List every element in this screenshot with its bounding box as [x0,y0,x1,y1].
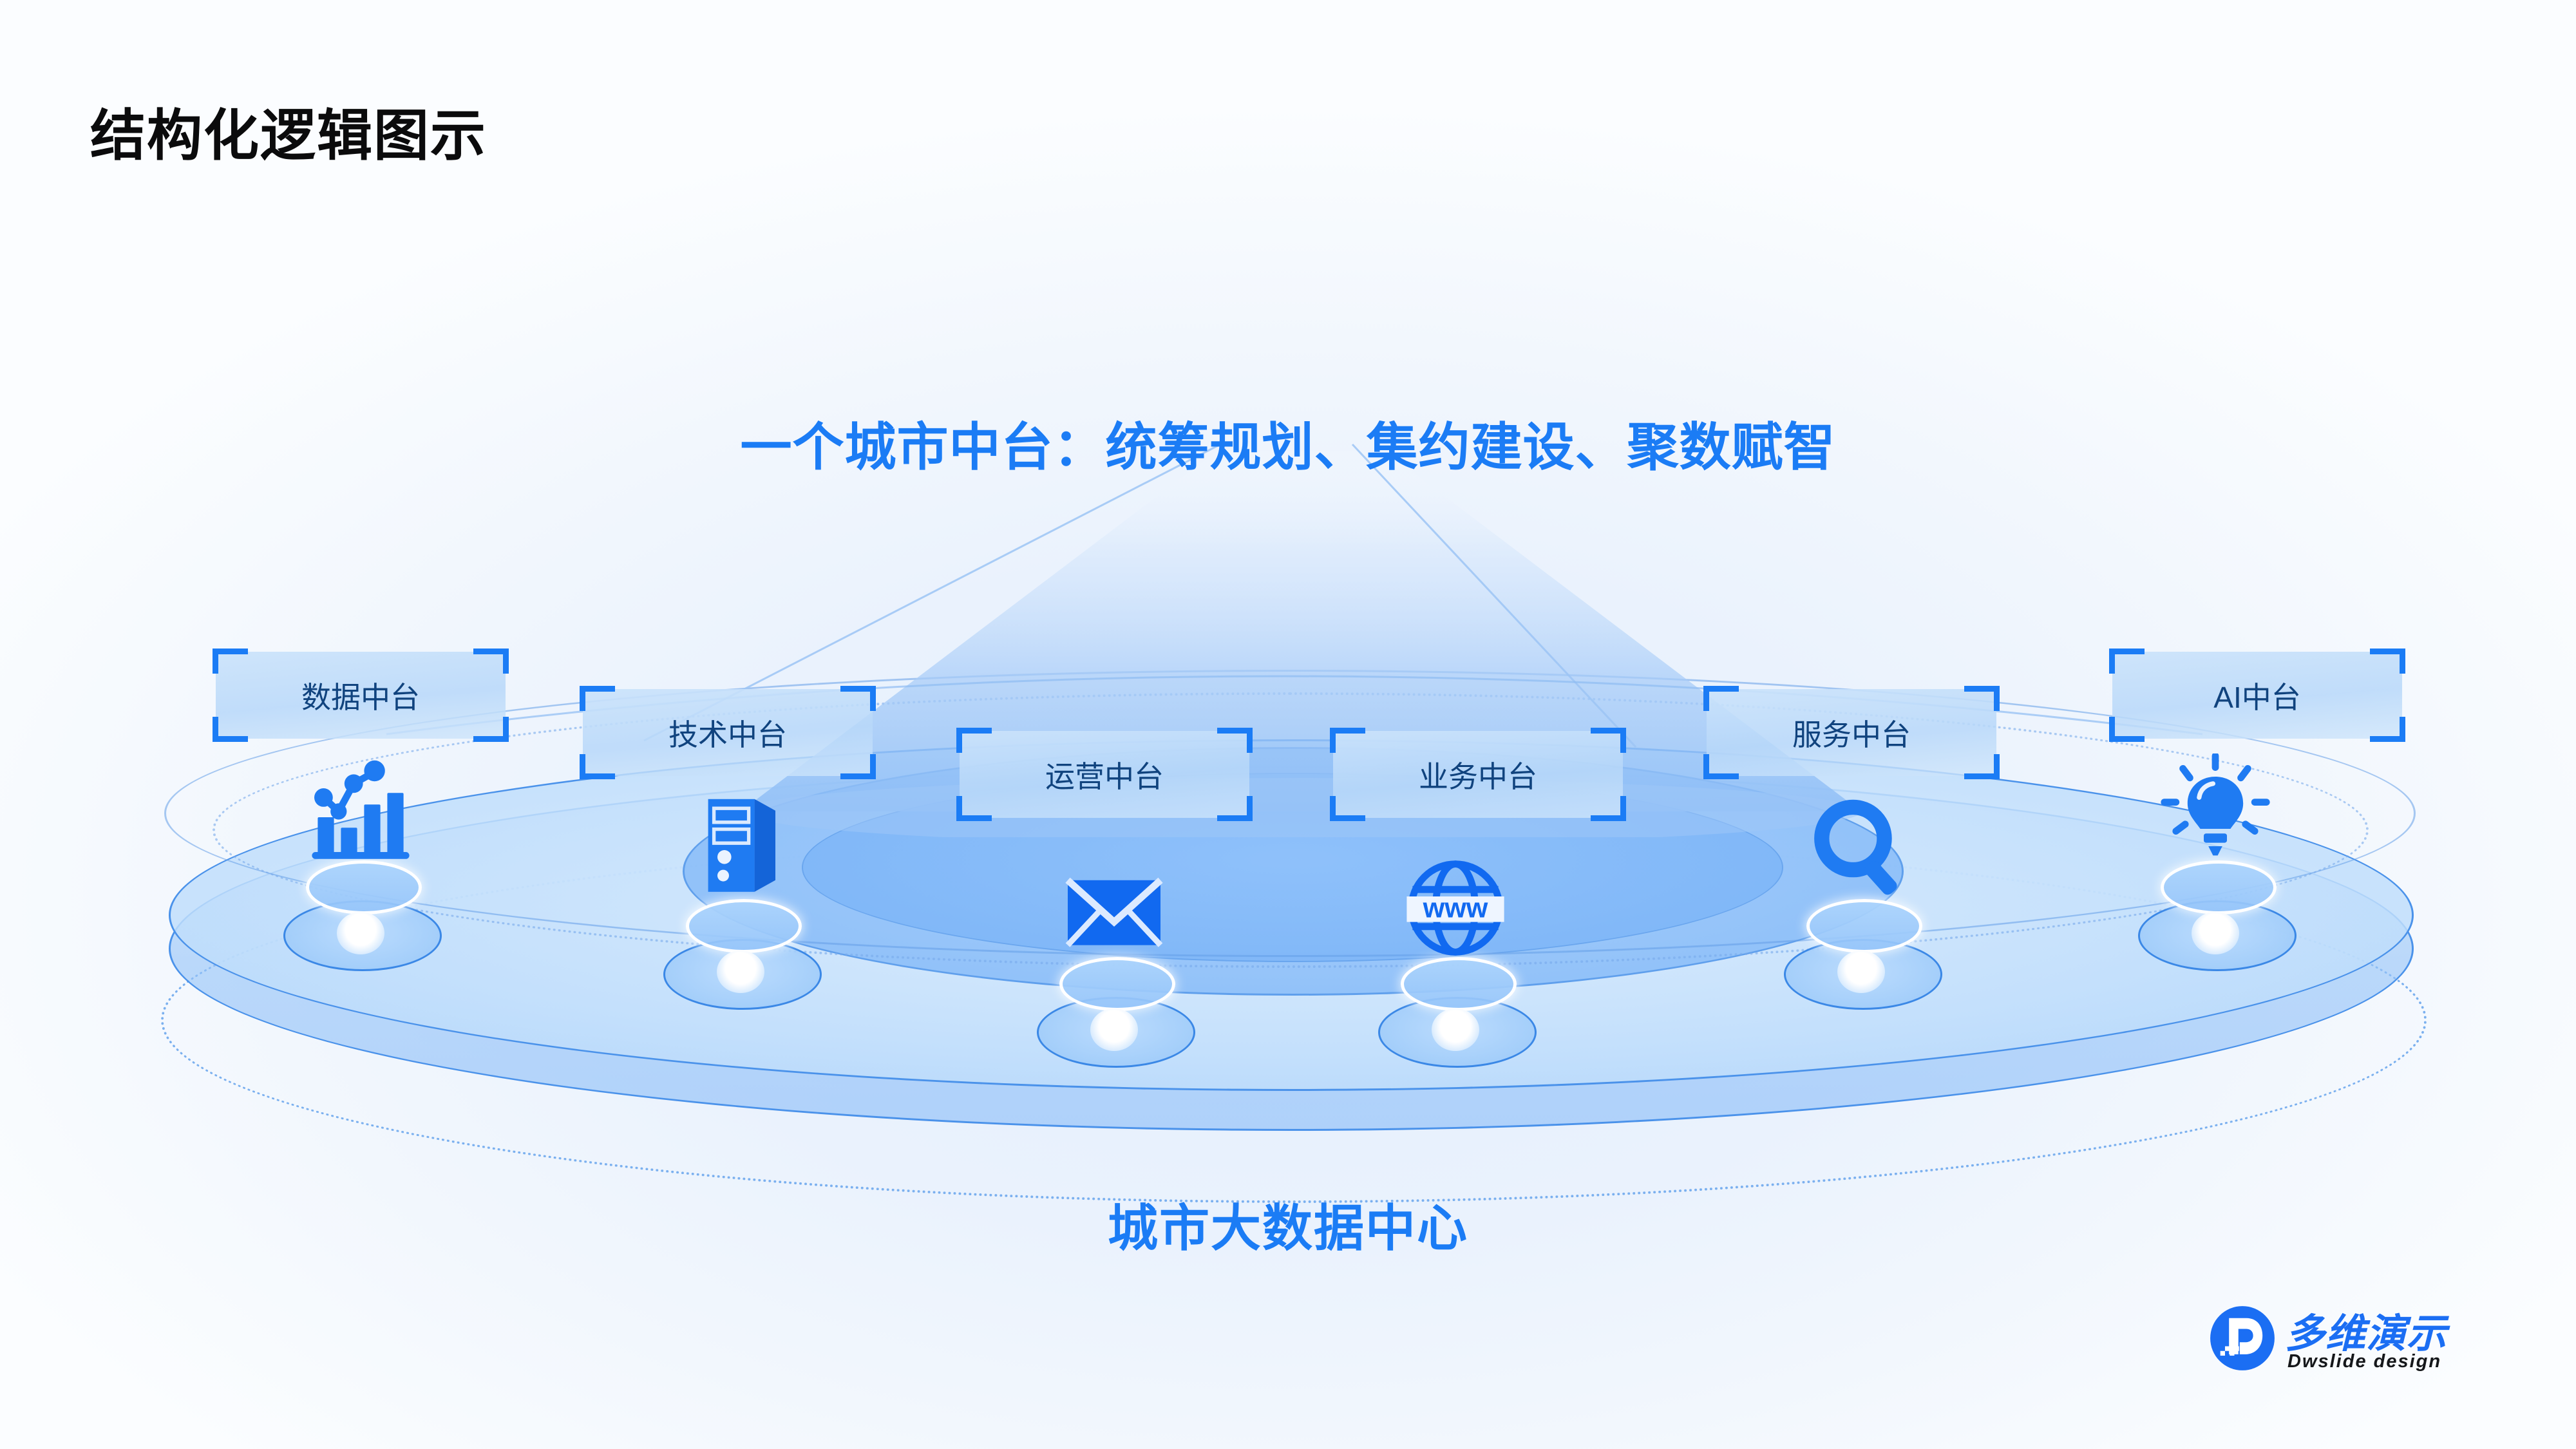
pedestal-base [2138,900,2297,971]
light-cone [741,451,1861,837]
node-ai-platform [2138,824,2293,979]
label-card-ai[interactable]: AI中台 [2112,652,2402,739]
platform-disc-body [169,766,2414,1131]
node-operations-platform [1037,921,1191,1075]
pedestal-base [1784,939,1942,1010]
label-card-operations[interactable]: 运营中台 [960,731,1249,818]
platform-inner-core [802,773,1783,962]
pedestal-glow-dot [337,912,384,954]
page-title: 结构化逻辑图示 [90,90,487,171]
pedestal-base [1378,997,1537,1068]
platform-disc-top [169,739,2414,1091]
server-tower-icon [683,792,799,908]
headline-text: 一个城市中台：统筹规划、集约建设、聚数赋智 [0,406,2576,480]
label-card-text: 数据中台 [216,652,506,739]
pedestal-glow-dot [1090,1009,1138,1051]
lightbulb-icon [2157,753,2273,869]
slide-canvas: 结构化逻辑图示 [0,0,2576,1449]
magnifier-icon [1803,792,1919,908]
pedestal-top [686,899,802,953]
platform-outer-dotted-ring [161,837,2427,1203]
brand-name-en: Dwslide design [2287,1351,2441,1372]
node-business-platform: www [1378,921,1533,1075]
label-card-technology[interactable]: 技术中台 [583,689,873,776]
label-card-text: 运营中台 [960,731,1249,818]
brand-logo: 多维演示 Dwslide design [2209,1301,2479,1391]
pedestal-top [2161,860,2277,914]
pedestal-base [283,900,442,971]
pedestal-glow-dot [717,951,764,993]
pedestal-top [1401,957,1517,1011]
label-card-service[interactable]: 服务中台 [1707,689,1996,776]
label-card-text: 技术中台 [583,689,873,776]
pedestal-top [1806,899,1922,953]
footer-caption: 城市大数据中心 [0,1188,2576,1260]
node-service-platform [1784,863,1938,1018]
pedestal-glow-dot [1837,951,1885,993]
pedestal-base [1037,997,1195,1068]
pedestal-top [1059,957,1175,1011]
label-card-business[interactable]: 业务中台 [1333,731,1623,818]
brand-name-cn: 多维演示 [2285,1301,2447,1359]
label-card-text: AI中台 [2112,652,2402,739]
bar-chart-icon [303,753,419,869]
pedestal-glow-dot [2192,912,2239,954]
label-card-text: 服务中台 [1707,689,1996,776]
node-data-platform [283,824,438,979]
platform-inner-ring [683,747,1904,996]
envelope-icon [1056,850,1172,966]
pedestal-top [306,860,422,914]
www-globe-icon: www [1397,850,1513,966]
orbit-ellipse-dotted [213,692,2369,968]
svg-text:www: www [1423,893,1488,923]
label-card-data[interactable]: 数据中台 [216,652,506,739]
pedestal-glow-dot [1432,1009,1479,1051]
label-card-text: 业务中台 [1333,731,1623,818]
pedestal-base [663,939,822,1010]
d-logo-icon [2209,1305,2276,1372]
node-technology-platform [663,863,818,1018]
